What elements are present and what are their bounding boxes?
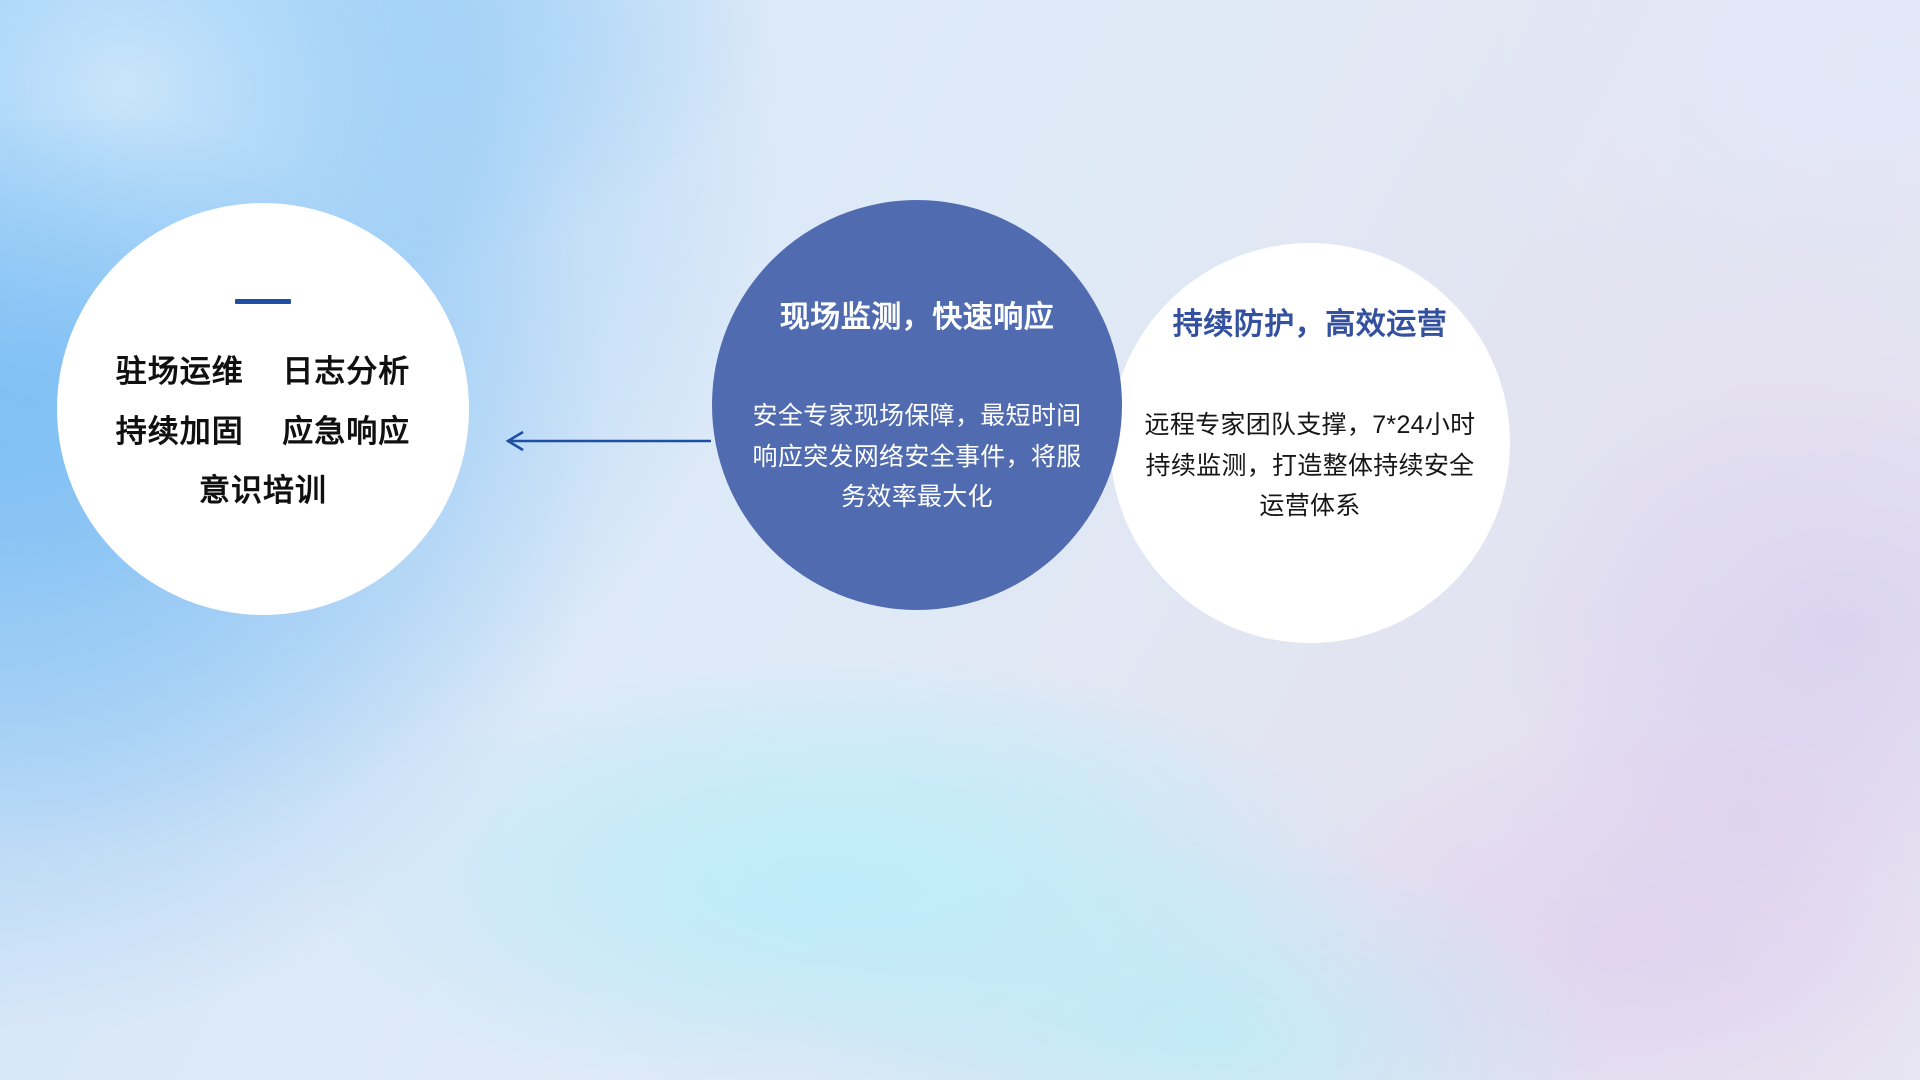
middle-circle-title: 现场监测，快速响应 [752, 292, 1082, 336]
middle-circle-body: 安全专家现场保障，最短时间响应突发网络安全事件，将服务效率最大化 [752, 396, 1082, 518]
middle-circle-content: 现场监测，快速响应 安全专家现场保障，最短时间响应突发网络安全事件，将服务效率最… [752, 292, 1082, 518]
right-circle-content: 持续防护，高效运营 远程专家团队支撑，7*24小时持续监测，打造整体持续安全运营… [1135, 299, 1485, 527]
background-glow-bottom-right [1490, 560, 1920, 1080]
right-circle-body: 远程专家团队支撑，7*24小时持续监测，打造整体持续安全运营体系 [1135, 405, 1485, 527]
background-glow-bottom-center [430, 640, 1330, 1070]
left-circle-content: 驻场运维 日志分析 持续加固 应急响应 意识培训 [57, 299, 469, 521]
right-circle: 持续防护，高效运营 远程专家团队支撑，7*24小时持续监测，打造整体持续安全运营… [1110, 243, 1510, 643]
divider-dash [235, 299, 291, 304]
left-circle-line-2: 持续加固 应急响应 [57, 402, 469, 462]
left-circle-line-3: 意识培训 [57, 461, 469, 521]
left-circle: 驻场运维 日志分析 持续加固 应急响应 意识培训 [57, 203, 469, 615]
connector-arrow-left [497, 428, 712, 454]
slide-canvas: 驻场运维 日志分析 持续加固 应急响应 意识培训 持续防护，高效运营 远程专家团… [0, 0, 1920, 1080]
left-circle-line-1: 驻场运维 日志分析 [57, 342, 469, 402]
right-circle-title: 持续防护，高效运营 [1135, 299, 1485, 343]
middle-circle: 现场监测，快速响应 安全专家现场保障，最短时间响应突发网络安全事件，将服务效率最… [712, 200, 1122, 610]
